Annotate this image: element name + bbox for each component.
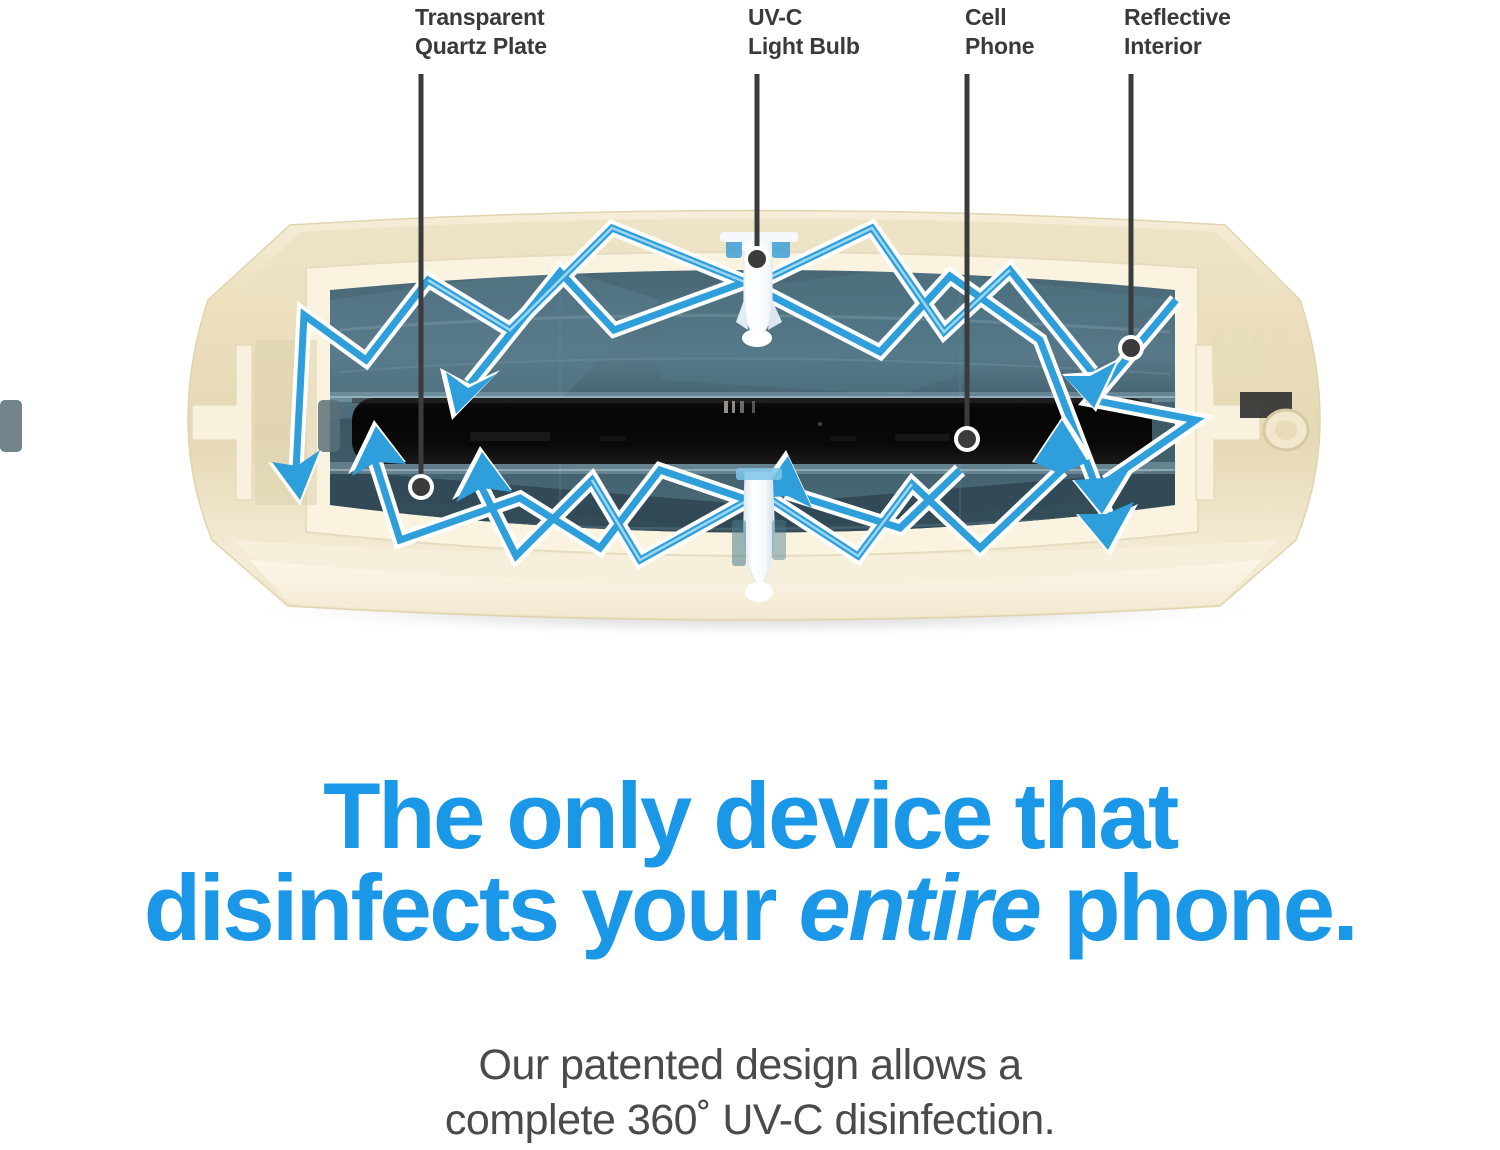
subtext-line-2: complete 360˚ UV-C disinfection.	[0, 1093, 1500, 1148]
subtext-line-1: Our patented design allows a	[0, 1038, 1500, 1093]
product-infographic: Transparent Quartz Plate UV-C Light Bulb…	[0, 0, 1500, 1150]
headline-line-1: The only device that	[0, 770, 1500, 862]
cell-phone	[352, 398, 1152, 464]
headline-line-2: disinfects your entire phone.	[0, 862, 1500, 954]
headline-emphasis-entire: entire	[799, 855, 1040, 960]
headline-line2-post: phone.	[1040, 855, 1357, 960]
subtext: Our patented design allows a complete 36…	[0, 1038, 1500, 1148]
device-cutaway-diagram	[0, 0, 1500, 700]
headline-line2-pre: disinfects your	[144, 855, 799, 960]
headline: The only device that disinfects your ent…	[0, 770, 1500, 954]
